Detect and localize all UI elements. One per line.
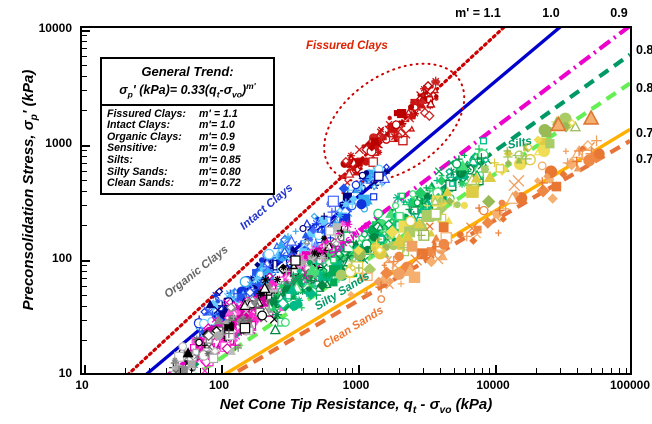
x-tick xyxy=(262,368,263,373)
y-tick-label: 10 xyxy=(24,366,72,380)
x-tick xyxy=(200,368,201,373)
y-tick xyxy=(82,191,87,192)
x-tick xyxy=(352,368,353,373)
y-tick xyxy=(82,41,87,42)
y-tick xyxy=(82,163,87,164)
annotation-fissured-clays: Fissured Clays xyxy=(306,40,388,52)
x-tick xyxy=(221,365,223,373)
x-tick xyxy=(454,368,455,373)
x-tick xyxy=(482,368,483,373)
x-tick xyxy=(208,368,209,373)
x-tick-label: 100 xyxy=(209,378,229,392)
y-tick xyxy=(82,320,87,321)
x-axis-title: Net Cone Tip Resistance, qt - σvo (kPa) xyxy=(80,396,632,416)
legend-row-value: m'= 0.72 xyxy=(199,178,269,190)
legend-row: Clean Sands:m'= 0.72 xyxy=(107,178,273,190)
x-tick xyxy=(399,368,400,373)
right-m-label: 0.70 xyxy=(636,152,652,166)
x-tick xyxy=(489,368,490,373)
y-tick xyxy=(82,65,87,66)
x-tick xyxy=(465,368,466,373)
legend-row: Silts:m'= 0.85 xyxy=(107,155,273,167)
legend-rows: Fissured Clays:m' = 1.1Intact Clays:m'= … xyxy=(102,106,273,193)
general-trend-legend: General Trend: σp' (kPa)= 0.33(qt-σvo)m'… xyxy=(100,57,275,195)
chart-figure: Preconsolidation Stress, σp' (kPa) Net C… xyxy=(0,0,652,424)
y-tick xyxy=(82,265,87,266)
right-m-label: 0.72 xyxy=(636,126,652,140)
legend-header: General Trend: σp' (kPa)= 0.33(qt-σvo)m' xyxy=(102,59,273,106)
x-tick xyxy=(591,368,592,373)
x-tick xyxy=(602,368,603,373)
data-cloud-fissured-clays xyxy=(340,77,440,194)
legend-row-name: Clean Sands: xyxy=(107,178,199,190)
y-tick xyxy=(82,225,87,226)
legend-title: General Trend: xyxy=(106,64,269,79)
x-tick xyxy=(345,368,346,373)
legend-row-value: m'= 0.85 xyxy=(199,155,269,167)
y-tick xyxy=(82,48,87,49)
y-tick xyxy=(82,205,87,206)
y-tick xyxy=(82,76,87,77)
y-tick xyxy=(82,150,87,151)
y-tick xyxy=(82,171,87,172)
x-tick xyxy=(317,368,318,373)
x-tick xyxy=(423,368,424,373)
x-tick xyxy=(495,365,497,373)
y-tick xyxy=(82,156,87,157)
y-tick-label: 100 xyxy=(24,251,72,265)
y-tick xyxy=(82,340,87,341)
x-tick xyxy=(328,368,329,373)
x-tick xyxy=(180,368,181,373)
right-m-label: 0.85 xyxy=(636,43,652,57)
x-tick xyxy=(577,368,578,373)
x-tick xyxy=(84,365,86,373)
x-tick xyxy=(286,368,287,373)
y-tick xyxy=(82,90,87,91)
x-tick-label: 10 xyxy=(75,378,88,392)
x-tick-label: 1000 xyxy=(343,378,370,392)
x-tick xyxy=(191,368,192,373)
x-tick xyxy=(474,368,475,373)
y-tick xyxy=(82,30,90,32)
x-tick xyxy=(440,368,441,373)
x-tick xyxy=(125,368,126,373)
right-m-label: 0.80 xyxy=(636,81,652,95)
x-tick xyxy=(337,368,338,373)
y-tick xyxy=(82,180,87,181)
x-tick xyxy=(619,368,620,373)
x-tick xyxy=(560,368,561,373)
y-tick xyxy=(82,145,90,147)
x-tick xyxy=(626,368,627,373)
y-tick xyxy=(82,110,87,111)
y-axis-title: Preconsolidation Stress, σp' (kPa) xyxy=(20,10,40,370)
y-tick xyxy=(82,271,87,272)
y-tick xyxy=(82,306,87,307)
legend-equation: σp' (kPa)= 0.33(qt-σvo)m' xyxy=(106,81,269,100)
y-tick xyxy=(82,278,87,279)
y-tick xyxy=(82,260,90,262)
y-tick xyxy=(82,35,87,36)
x-tick xyxy=(215,368,216,373)
y-tick xyxy=(82,295,87,296)
top-m-label: 0.9 xyxy=(610,6,627,20)
x-tick-label: 10000 xyxy=(476,378,509,392)
x-tick xyxy=(358,365,360,373)
y-tick-label: 10000 xyxy=(24,21,72,35)
top-m-label: m' = 1.1 xyxy=(455,6,501,20)
x-tick xyxy=(536,368,537,373)
y-tick xyxy=(82,56,87,57)
y-tick xyxy=(82,286,87,287)
x-tick-label: 100000 xyxy=(610,378,650,392)
x-tick xyxy=(611,368,612,373)
legend-row-name: Silts: xyxy=(107,155,199,167)
top-m-label: 1.0 xyxy=(542,6,559,20)
x-tick xyxy=(303,368,304,373)
x-tick xyxy=(149,368,150,373)
y-tick-label: 1000 xyxy=(24,136,72,150)
x-tick xyxy=(166,368,167,373)
